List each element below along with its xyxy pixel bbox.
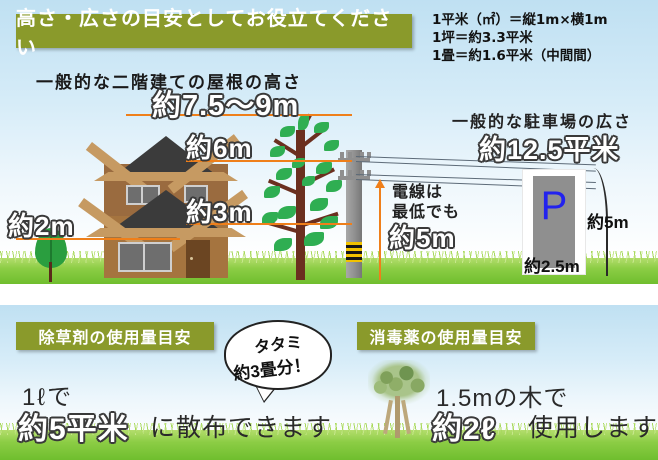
top-panel: P 一般的な二階建ての屋根の高さ 約7.5〜9m 約6m 約3m 約2m 電線は… xyxy=(0,0,658,292)
pole-insulator xyxy=(348,170,352,176)
measure-arrow-wire xyxy=(379,180,381,280)
parking-width-value: 約2.5m xyxy=(524,252,580,277)
herbicide-coverage-value: 約5平米 xyxy=(18,404,129,448)
deciduous-tree-illustration xyxy=(258,112,342,280)
tree-leaf xyxy=(298,114,309,130)
parking-area-value: 約12.5平米 xyxy=(479,128,620,167)
roof-height-value: 約7.5〜9m xyxy=(152,82,299,124)
tree-leaf xyxy=(264,186,280,198)
bush-trunk xyxy=(49,262,52,282)
pole-hazard-stripe xyxy=(346,242,362,262)
tree-leaf xyxy=(274,238,292,251)
herbicide-suffix: に散布できます xyxy=(150,408,332,444)
tree-leaf xyxy=(278,206,296,219)
parking-depth-value: 約5m xyxy=(587,208,629,233)
tree-branch xyxy=(383,400,393,434)
tree-leaf xyxy=(276,168,292,180)
disinfectant-suffix: 使用します xyxy=(528,408,658,444)
small-tree-illustration xyxy=(368,360,430,438)
legend-line-1: 1平米（㎡）＝縦1m×横1m xyxy=(432,12,652,30)
infographic-root: P 一般的な二階建ての屋根の高さ 約7.5〜9m 約6m 約3m 約2m 電線は… xyxy=(0,0,658,460)
tree-leaf xyxy=(324,140,339,151)
pole-insulator xyxy=(340,152,344,158)
legend-line-3: 1畳＝約1.6平米（中間間） xyxy=(432,48,652,66)
tree-leaf xyxy=(314,122,329,133)
unit-legend: 1平米（㎡）＝縦1m×横1m 1坪＝約3.3平米 1畳＝約1.6平米（中間間） xyxy=(432,12,652,65)
utility-pole-illustration xyxy=(344,150,364,278)
parking-p-letter: P xyxy=(533,186,575,226)
main-header-ribbon: 高さ・広さの目安としてお役立てください xyxy=(16,14,412,48)
tree-leaf xyxy=(326,180,342,192)
tree-leaf xyxy=(304,232,324,246)
tree-leaf xyxy=(280,126,295,137)
tree-branch xyxy=(401,400,411,434)
pole-insulator xyxy=(348,152,352,158)
pole-insulator xyxy=(340,170,344,176)
legend-line-2: 1坪＝約3.3平米 xyxy=(432,30,652,48)
house-door xyxy=(186,240,210,278)
house-lower-eave xyxy=(86,228,246,237)
tree-leaf xyxy=(270,146,285,157)
second-floor-height-value: 約6m xyxy=(186,128,253,165)
tree-trunk xyxy=(395,396,400,438)
house-upper-eave xyxy=(94,172,238,181)
tree-leaf xyxy=(302,176,315,186)
first-roof-height-value: 約3m xyxy=(186,192,253,229)
disinfectant-header-ribbon: 消毒薬の使用量目安 xyxy=(357,322,535,350)
herbicide-header-ribbon: 除草剤の使用量目安 xyxy=(16,322,214,350)
disinfectant-amount-value: 約2ℓ xyxy=(432,404,496,448)
window-height-value: 約2m xyxy=(8,206,75,243)
wire-height-value: 約5m xyxy=(389,218,456,255)
tree-leaf xyxy=(310,198,328,211)
house-window-ground xyxy=(118,242,172,272)
